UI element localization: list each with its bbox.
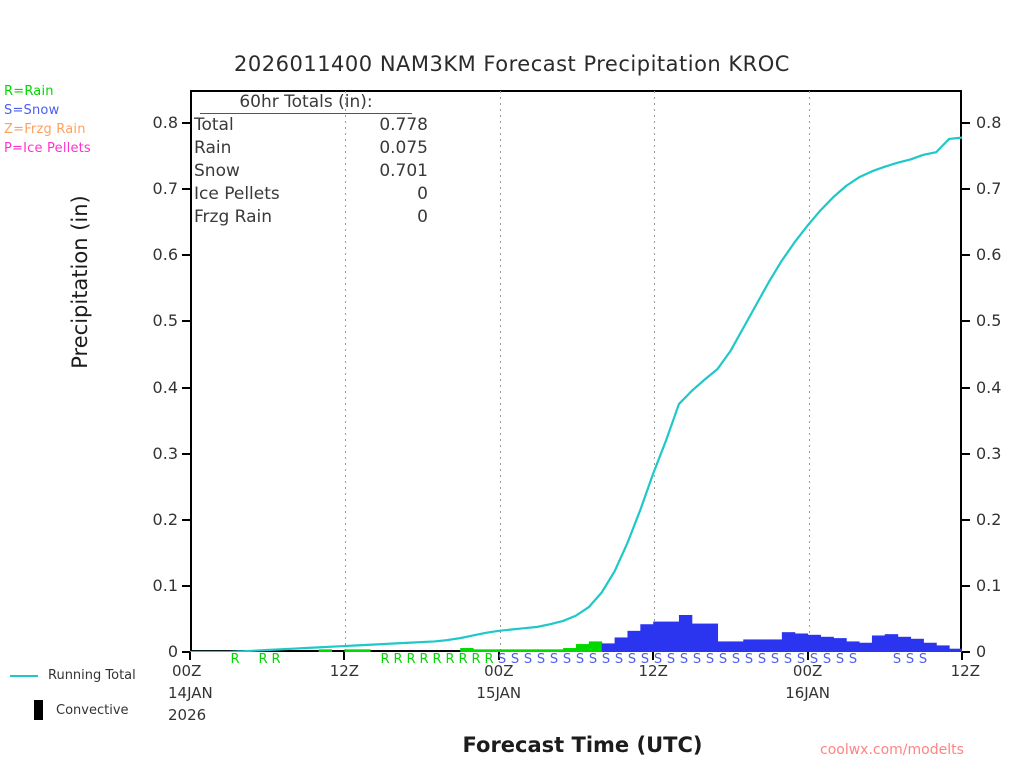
y-tick-left	[182, 122, 190, 124]
y-tick-left	[182, 188, 190, 190]
precip-type-letter-row: RRRRRRRRRRRRSSSSSSSSSSSSSSSSSSSSSSSSSSSS…	[190, 653, 962, 669]
x-tick-sublabel: 16JAN	[753, 684, 863, 702]
ptype-letter-snow: S	[612, 653, 626, 667]
ptype-letter-snow: S	[716, 653, 730, 667]
ptype-letter-snow: S	[781, 653, 795, 667]
y-tick-label-left: 0.8	[118, 113, 178, 132]
ptype-letter-snow: S	[651, 653, 665, 667]
ptype-letter-snow: S	[729, 653, 743, 667]
ptype-letter-rain: R	[404, 653, 418, 667]
ptype-letter-rain: R	[417, 653, 431, 667]
ptype-letter-snow: S	[768, 653, 782, 667]
ptype-letter-snow: S	[560, 653, 574, 667]
y-tick-label-right: 0.7	[976, 179, 1024, 198]
ptype-letter-snow: S	[495, 653, 509, 667]
y-tick-label-left: 0.4	[118, 378, 178, 397]
ptype-letter-rain: R	[443, 653, 457, 667]
y-tick-label-left: 0.5	[118, 311, 178, 330]
legend-item-rain: R=Rain	[4, 82, 179, 101]
y-tick-label-right: 0.5	[976, 311, 1024, 330]
ptype-letter-rain: R	[430, 653, 444, 667]
ptype-letter-rain: R	[469, 653, 483, 667]
ptype-letter-snow: S	[703, 653, 717, 667]
legend-convective-label: Convective	[56, 703, 129, 718]
ptype-letter-snow: S	[742, 653, 756, 667]
running-total-curve	[190, 90, 962, 652]
ptype-letter-snow: S	[677, 653, 691, 667]
ptype-letter-snow: S	[794, 653, 808, 667]
y-tick-left	[182, 453, 190, 455]
ptype-letter-rain: R	[269, 653, 283, 667]
ptype-letter-snow: S	[625, 653, 639, 667]
y-tick-right	[962, 585, 970, 587]
y-axis-title: Precipitation (in)	[68, 182, 92, 382]
y-tick-right	[962, 254, 970, 256]
ptype-letter-snow: S	[664, 653, 678, 667]
ptype-letter-rain: R	[482, 653, 496, 667]
y-tick-label-right: 0	[976, 642, 1024, 661]
y-tick-right	[962, 320, 970, 322]
ptype-letter-snow: S	[690, 653, 704, 667]
ptype-letter-snow: S	[599, 653, 613, 667]
legend-running-total: Running Total	[10, 668, 175, 683]
ptype-letter-rain: R	[378, 653, 392, 667]
y-tick-left	[182, 519, 190, 521]
ptype-letter-rain: R	[456, 653, 470, 667]
ptype-letter-snow: S	[547, 653, 561, 667]
ptype-letter-snow: S	[534, 653, 548, 667]
watermark: coolwx.com/modelts	[820, 742, 964, 758]
ptype-letter-snow: S	[846, 653, 860, 667]
y-tick-right	[962, 453, 970, 455]
legend-running-total-label: Running Total	[48, 668, 136, 683]
y-tick-label-left: 0	[118, 642, 178, 661]
ptype-letter-snow: S	[916, 653, 930, 667]
y-tick-left	[182, 254, 190, 256]
ptype-letter-snow: S	[638, 653, 652, 667]
page-title: 2026011400 NAM3KM Forecast Precipitation…	[0, 52, 1024, 76]
ptype-letter-snow: S	[903, 653, 917, 667]
legend-convective: Convective	[10, 700, 175, 720]
ptype-letter-snow: S	[573, 653, 587, 667]
y-tick-right	[962, 188, 970, 190]
y-tick-label-left: 0.3	[118, 444, 178, 463]
y-tick-label-right: 0.1	[976, 576, 1024, 595]
convective-bar-icon	[34, 700, 43, 720]
ptype-letter-snow: S	[820, 653, 834, 667]
ptype-letter-rain: R	[391, 653, 405, 667]
y-tick-right	[962, 122, 970, 124]
ptype-letter-snow: S	[890, 653, 904, 667]
y-tick-label-right: 0.2	[976, 510, 1024, 529]
x-tick-year-label: 2026	[168, 706, 278, 724]
legend-item-ice-pellets: P=Ice Pellets	[4, 139, 179, 158]
y-tick-label-right: 0.8	[976, 113, 1024, 132]
ptype-letter-snow: S	[755, 653, 769, 667]
y-tick-label-left: 0.1	[118, 576, 178, 595]
ptype-letter-snow: S	[521, 653, 535, 667]
ptype-letter-rain: R	[228, 653, 242, 667]
y-tick-right	[962, 519, 970, 521]
y-tick-right	[962, 387, 970, 389]
y-tick-label-right: 0.4	[976, 378, 1024, 397]
y-tick-left	[182, 387, 190, 389]
ptype-letter-snow: S	[508, 653, 522, 667]
y-tick-left	[182, 320, 190, 322]
ptype-letter-snow: S	[586, 653, 600, 667]
y-tick-label-right: 0.6	[976, 245, 1024, 264]
running-total-path	[190, 138, 962, 652]
x-tick-sublabel: 15JAN	[444, 684, 554, 702]
ptype-letter-snow: S	[807, 653, 821, 667]
y-tick-label-left: 0.6	[118, 245, 178, 264]
x-tick-sublabel: 14JAN	[168, 684, 278, 702]
y-tick-left	[182, 585, 190, 587]
running-total-line-icon	[10, 675, 38, 677]
ptype-letter-snow: S	[833, 653, 847, 667]
y-tick-label-left: 0.2	[118, 510, 178, 529]
ptype-letter-rain: R	[256, 653, 270, 667]
y-tick-right	[962, 651, 970, 653]
y-tick-label-left: 0.7	[118, 179, 178, 198]
y-tick-label-right: 0.3	[976, 444, 1024, 463]
